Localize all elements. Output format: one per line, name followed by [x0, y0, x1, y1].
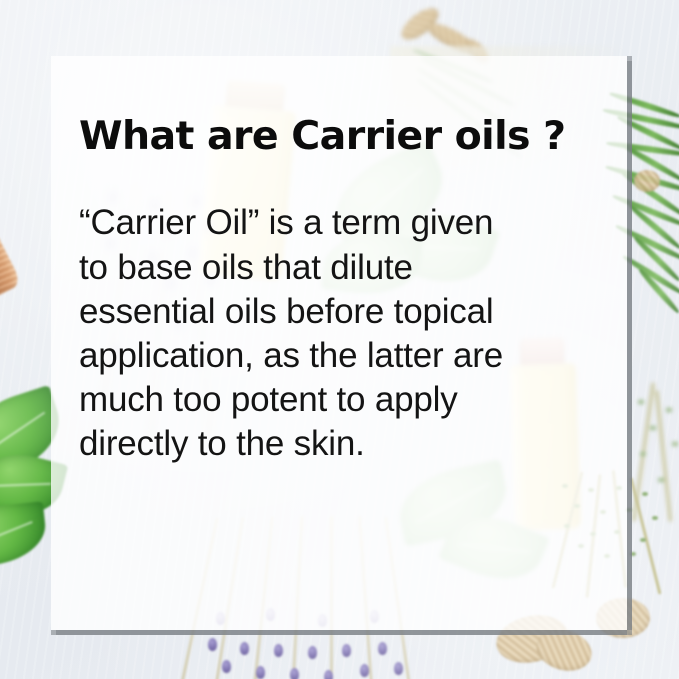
infographic-canvas: What are Carrier oils ? “Carrier Oil” is…	[0, 0, 679, 679]
body-line: essential oils before topical	[79, 290, 601, 334]
page-title: What are Carrier oils ?	[79, 116, 601, 157]
body-paragraph: “Carrier Oil” is a term given to base oi…	[79, 201, 601, 466]
body-line: much too potent to apply	[79, 378, 601, 422]
body-line: directly to the skin.	[79, 422, 601, 466]
body-line: application, as the latter are	[79, 334, 601, 378]
content-card: What are Carrier oils ? “Carrier Oil” is…	[51, 56, 627, 630]
body-line: “Carrier Oil” is a term given	[79, 201, 601, 245]
text-block: What are Carrier oils ? “Carrier Oil” is…	[51, 56, 627, 630]
body-line: to base oils that dilute	[79, 246, 601, 290]
